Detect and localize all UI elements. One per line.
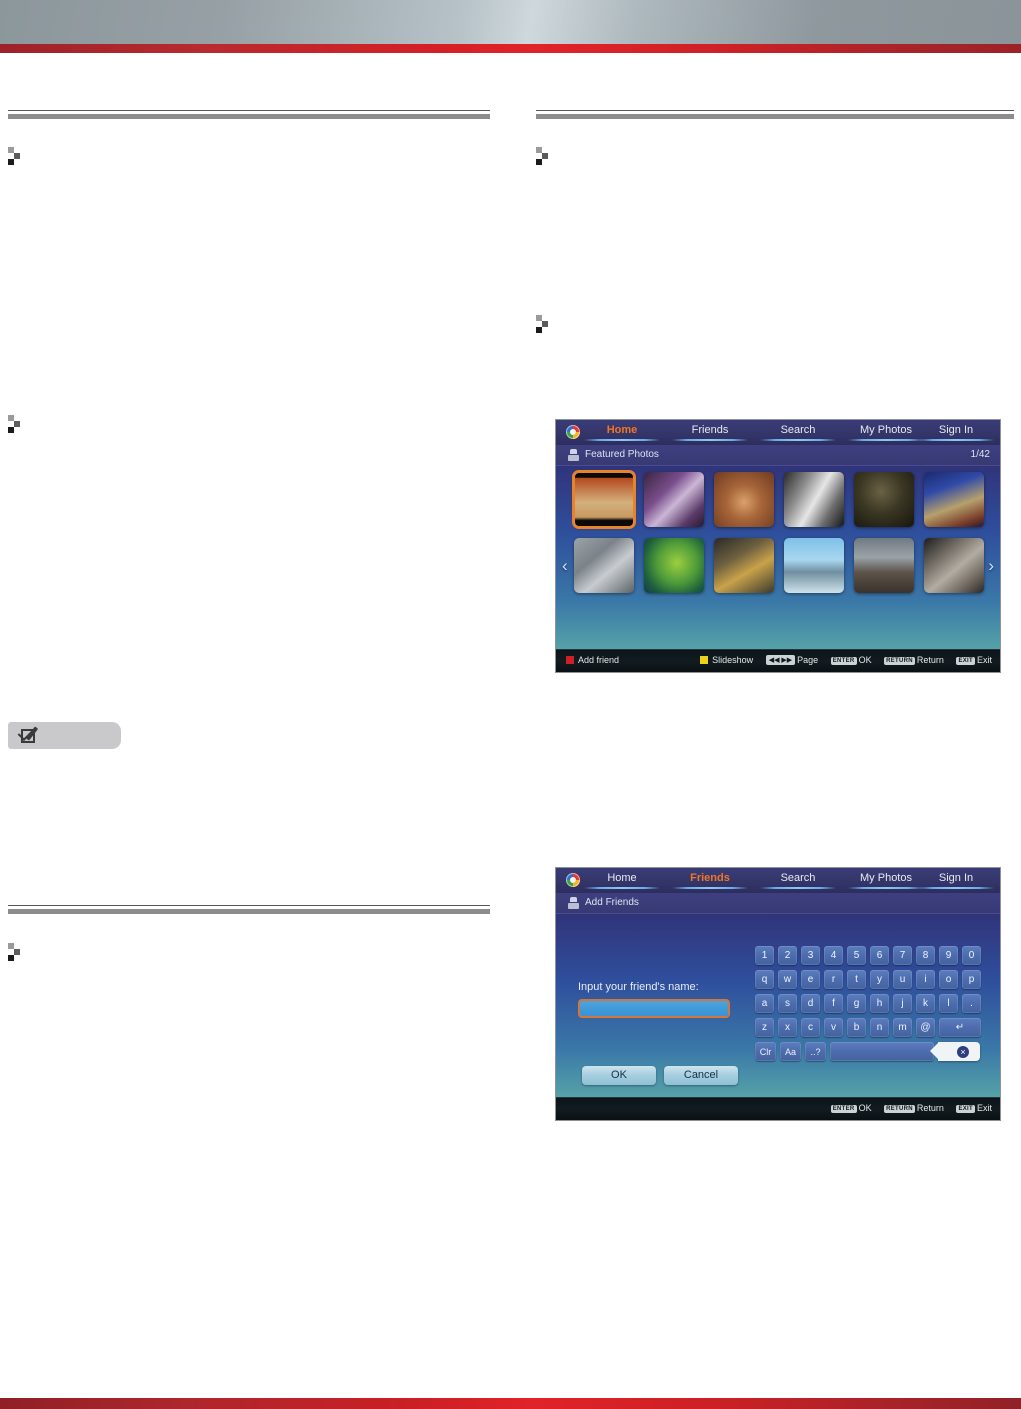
friend-name-input[interactable]	[578, 999, 730, 1018]
key-3[interactable]: 3	[801, 946, 820, 965]
key-w[interactable]: w	[778, 970, 797, 989]
color-wheel-logo-icon	[566, 425, 580, 439]
photo-thumb-purple-caterpillar[interactable]	[644, 472, 704, 527]
tv-nav-bar: Home Friends Search My Photos Sign In	[556, 868, 1000, 893]
key-9[interactable]: 9	[939, 946, 958, 965]
tab-underline	[760, 887, 836, 889]
list-bullet-icon	[8, 415, 23, 433]
tab-underline	[584, 439, 660, 441]
key-r[interactable]: r	[824, 970, 843, 989]
hint-return[interactable]: RETURNReturn	[884, 655, 944, 665]
onscreen-keyboard: 1 2 3 4 5 6 7 8 9 0 q w e r t y u i o	[755, 946, 987, 1066]
tab-home[interactable]: Home	[580, 422, 664, 443]
right-text-column	[536, 110, 1014, 333]
tab-underline	[848, 887, 924, 889]
photo-thumb-highway-aerial[interactable]	[714, 538, 774, 593]
featured-photos-screenshot: Home Friends Search My Photos Sign In	[555, 419, 1001, 673]
note-callout-box	[8, 722, 121, 749]
key-c[interactable]: c	[801, 1018, 820, 1037]
key-p[interactable]: p	[962, 970, 981, 989]
photo-grid-row	[574, 472, 984, 527]
hint-ok-label: OK	[859, 655, 872, 665]
key-v[interactable]: v	[824, 1018, 843, 1037]
tab-sign-in[interactable]: Sign In	[914, 422, 998, 443]
tab-underline	[760, 439, 836, 441]
exit-keycap-icon: EXIT	[956, 1105, 975, 1113]
key-b[interactable]: b	[847, 1018, 866, 1037]
key-case-toggle[interactable]: Aa	[780, 1042, 801, 1061]
photo-thumb-paraglider-lake[interactable]	[784, 538, 844, 593]
key-f[interactable]: f	[824, 994, 843, 1013]
tab-home[interactable]: Home	[580, 870, 664, 891]
section-divider	[8, 905, 490, 917]
hint-page-label: Page	[797, 655, 818, 665]
tab-friends[interactable]: Friends	[668, 422, 752, 443]
page-header-banner	[0, 0, 1021, 44]
enter-keycap-icon: ENTER	[831, 1105, 857, 1113]
key-6[interactable]: 6	[870, 946, 889, 965]
tab-friends-label: Friends	[668, 422, 752, 438]
add-friends-keyboard-screenshot: Home Friends Search My Photos Sign In	[555, 867, 1001, 1121]
key-8[interactable]: 8	[916, 946, 935, 965]
photo-thumb-peacock[interactable]	[644, 538, 704, 593]
key-1[interactable]: 1	[755, 946, 774, 965]
tab-underline	[672, 887, 748, 889]
list-bullet-icon	[536, 315, 551, 333]
subheader-title: Featured Photos	[585, 449, 659, 460]
hint-ok-label: OK	[859, 1103, 872, 1113]
hint-return-label: Return	[917, 1103, 944, 1113]
key-at[interactable]: @	[916, 1018, 935, 1037]
photo-thumb-storm-landscape[interactable]	[854, 538, 914, 593]
key-g[interactable]: g	[847, 994, 866, 1013]
key-e[interactable]: e	[801, 970, 820, 989]
left-text-column	[8, 110, 490, 433]
return-keycap-icon: RETURN	[884, 1105, 915, 1113]
photo-grid	[574, 472, 984, 604]
tab-friends-label: Friends	[668, 870, 752, 886]
keyboard-row-zxcv: z x c v b n m @ ↵	[755, 1018, 987, 1037]
photo-thumb-sculpture-figures[interactable]	[924, 538, 984, 593]
page-track-icon: ◀◀ ▶▶	[766, 655, 795, 665]
tv-nav-bar: Home Friends Search My Photos Sign In	[556, 420, 1000, 445]
tab-underline	[918, 887, 994, 889]
key-o[interactable]: o	[939, 970, 958, 989]
section-divider	[536, 110, 1014, 122]
tab-underline	[672, 439, 748, 441]
key-symbols[interactable]: ..?	[805, 1042, 826, 1061]
hint-ok[interactable]: ENTEROK	[831, 1103, 872, 1113]
keyboard-row-asdf: a s d f g h j k l .	[755, 994, 987, 1013]
footer-red-rule	[0, 1398, 1021, 1409]
photo-thumb-red-rock-desert[interactable]	[574, 472, 634, 527]
list-bullet-icon	[536, 147, 551, 165]
left-section-2	[8, 905, 490, 961]
key-period[interactable]: .	[962, 994, 981, 1013]
tab-home-label: Home	[580, 422, 664, 438]
key-d[interactable]: d	[801, 994, 820, 1013]
hint-group-right: ENTEROK RETURNReturn EXITExit	[831, 1103, 992, 1113]
hint-slideshow[interactable]: Slideshow	[700, 655, 753, 665]
photo-album-icon	[568, 449, 579, 461]
photo-thumb-black-white-urban[interactable]	[784, 472, 844, 527]
key-7[interactable]: 7	[893, 946, 912, 965]
tv-bottom-hint-bar: Add friend Slideshow ◀◀ ▶▶Page ENTEROK R…	[556, 649, 1000, 672]
yellow-key-swatch-icon	[700, 656, 708, 664]
page-counter: 1/42	[971, 449, 990, 460]
keyboard-row-digits: 1 2 3 4 5 6 7 8 9 0	[755, 946, 987, 965]
keyboard-row-qwerty: q w e r t y u i o p	[755, 970, 987, 989]
enter-keycap-icon: ENTER	[831, 657, 857, 665]
key-t[interactable]: t	[847, 970, 866, 989]
key-space[interactable]	[830, 1042, 934, 1061]
tab-search[interactable]: Search	[756, 422, 840, 443]
photo-grid-row	[574, 538, 984, 593]
photo-thumb-ferris-wheel-lights[interactable]	[924, 472, 984, 527]
prev-page-arrow-icon[interactable]: ‹	[562, 556, 568, 576]
hint-slideshow-label: Slideshow	[712, 655, 753, 665]
key-clear[interactable]: Clr	[755, 1042, 776, 1061]
photo-thumb-child-in-fur-hood[interactable]	[714, 472, 774, 527]
key-l[interactable]: l	[939, 994, 958, 1013]
key-j[interactable]: j	[893, 994, 912, 1013]
key-2[interactable]: 2	[778, 946, 797, 965]
hint-exit[interactable]: EXITExit	[956, 1103, 992, 1113]
key-m[interactable]: m	[893, 1018, 912, 1037]
tv-bottom-hint-bar: ENTEROK RETURNReturn EXITExit	[556, 1097, 1000, 1120]
header-red-rule	[0, 44, 1021, 53]
tv-subheader: Add Friends	[556, 893, 1000, 914]
photo-thumb-night-sky-tent[interactable]	[854, 472, 914, 527]
exit-keycap-icon: EXIT	[956, 657, 975, 665]
key-h[interactable]: h	[870, 994, 889, 1013]
key-4[interactable]: 4	[824, 946, 843, 965]
hint-exit-label: Exit	[977, 1103, 992, 1113]
red-key-swatch-icon	[566, 656, 574, 664]
key-5[interactable]: 5	[847, 946, 866, 965]
hint-return[interactable]: RETURNReturn	[884, 1103, 944, 1113]
key-n[interactable]: n	[870, 1018, 889, 1037]
hint-ok[interactable]: ENTEROK	[831, 655, 872, 665]
tab-search-label: Search	[756, 422, 840, 438]
hint-group-right: Slideshow ◀◀ ▶▶Page ENTEROK RETURNReturn…	[700, 655, 992, 665]
key-x[interactable]: x	[778, 1018, 797, 1037]
next-page-arrow-icon[interactable]: ›	[988, 556, 994, 576]
tab-sign-in-label: Sign In	[914, 870, 998, 886]
tv-subheader: Featured Photos 1/42	[556, 445, 1000, 466]
return-keycap-icon: RETURN	[884, 657, 915, 665]
ok-button[interactable]: OK	[582, 1066, 656, 1085]
key-0[interactable]: 0	[962, 946, 981, 965]
key-k[interactable]: k	[916, 994, 935, 1013]
key-enter[interactable]: ↵	[939, 1018, 981, 1037]
photo-thumb-stone-carving[interactable]	[574, 538, 634, 593]
note-checkbox-pencil-icon	[21, 727, 39, 744]
hint-exit-label: Exit	[977, 655, 992, 665]
subheader-title: Add Friends	[585, 897, 639, 908]
left-section-1	[8, 110, 490, 165]
tab-underline	[848, 439, 924, 441]
tab-underline	[918, 439, 994, 441]
key-q[interactable]: q	[755, 970, 774, 989]
key-backspace[interactable]: ×	[938, 1042, 980, 1061]
cancel-button[interactable]: Cancel	[664, 1066, 738, 1085]
section-divider	[8, 110, 490, 122]
friend-name-label: Input your friend's name:	[578, 981, 699, 993]
keyboard-row-functions: Clr Aa ..? ×	[755, 1042, 987, 1061]
key-a[interactable]: a	[755, 994, 774, 1013]
key-s[interactable]: s	[778, 994, 797, 1013]
tab-sign-in-label: Sign In	[914, 422, 998, 438]
tab-underline	[584, 887, 660, 889]
hint-add-friend[interactable]: Add friend	[566, 655, 619, 665]
key-i[interactable]: i	[916, 970, 935, 989]
tab-search[interactable]: Search	[756, 870, 840, 891]
list-bullet-icon	[8, 943, 23, 961]
add-friend-icon	[568, 897, 579, 909]
hint-exit[interactable]: EXITExit	[956, 655, 992, 665]
hint-add-friend-label: Add friend	[578, 655, 619, 665]
key-y[interactable]: y	[870, 970, 889, 989]
tab-friends[interactable]: Friends	[668, 870, 752, 891]
tab-sign-in[interactable]: Sign In	[914, 870, 998, 891]
tab-home-label: Home	[580, 870, 664, 886]
key-u[interactable]: u	[893, 970, 912, 989]
hint-page[interactable]: ◀◀ ▶▶Page	[766, 655, 819, 665]
list-bullet-icon	[8, 147, 23, 165]
hint-return-label: Return	[917, 655, 944, 665]
tab-search-label: Search	[756, 870, 840, 886]
color-wheel-logo-icon	[566, 873, 580, 887]
key-z[interactable]: z	[755, 1018, 774, 1037]
backspace-x-icon: ×	[957, 1046, 969, 1058]
